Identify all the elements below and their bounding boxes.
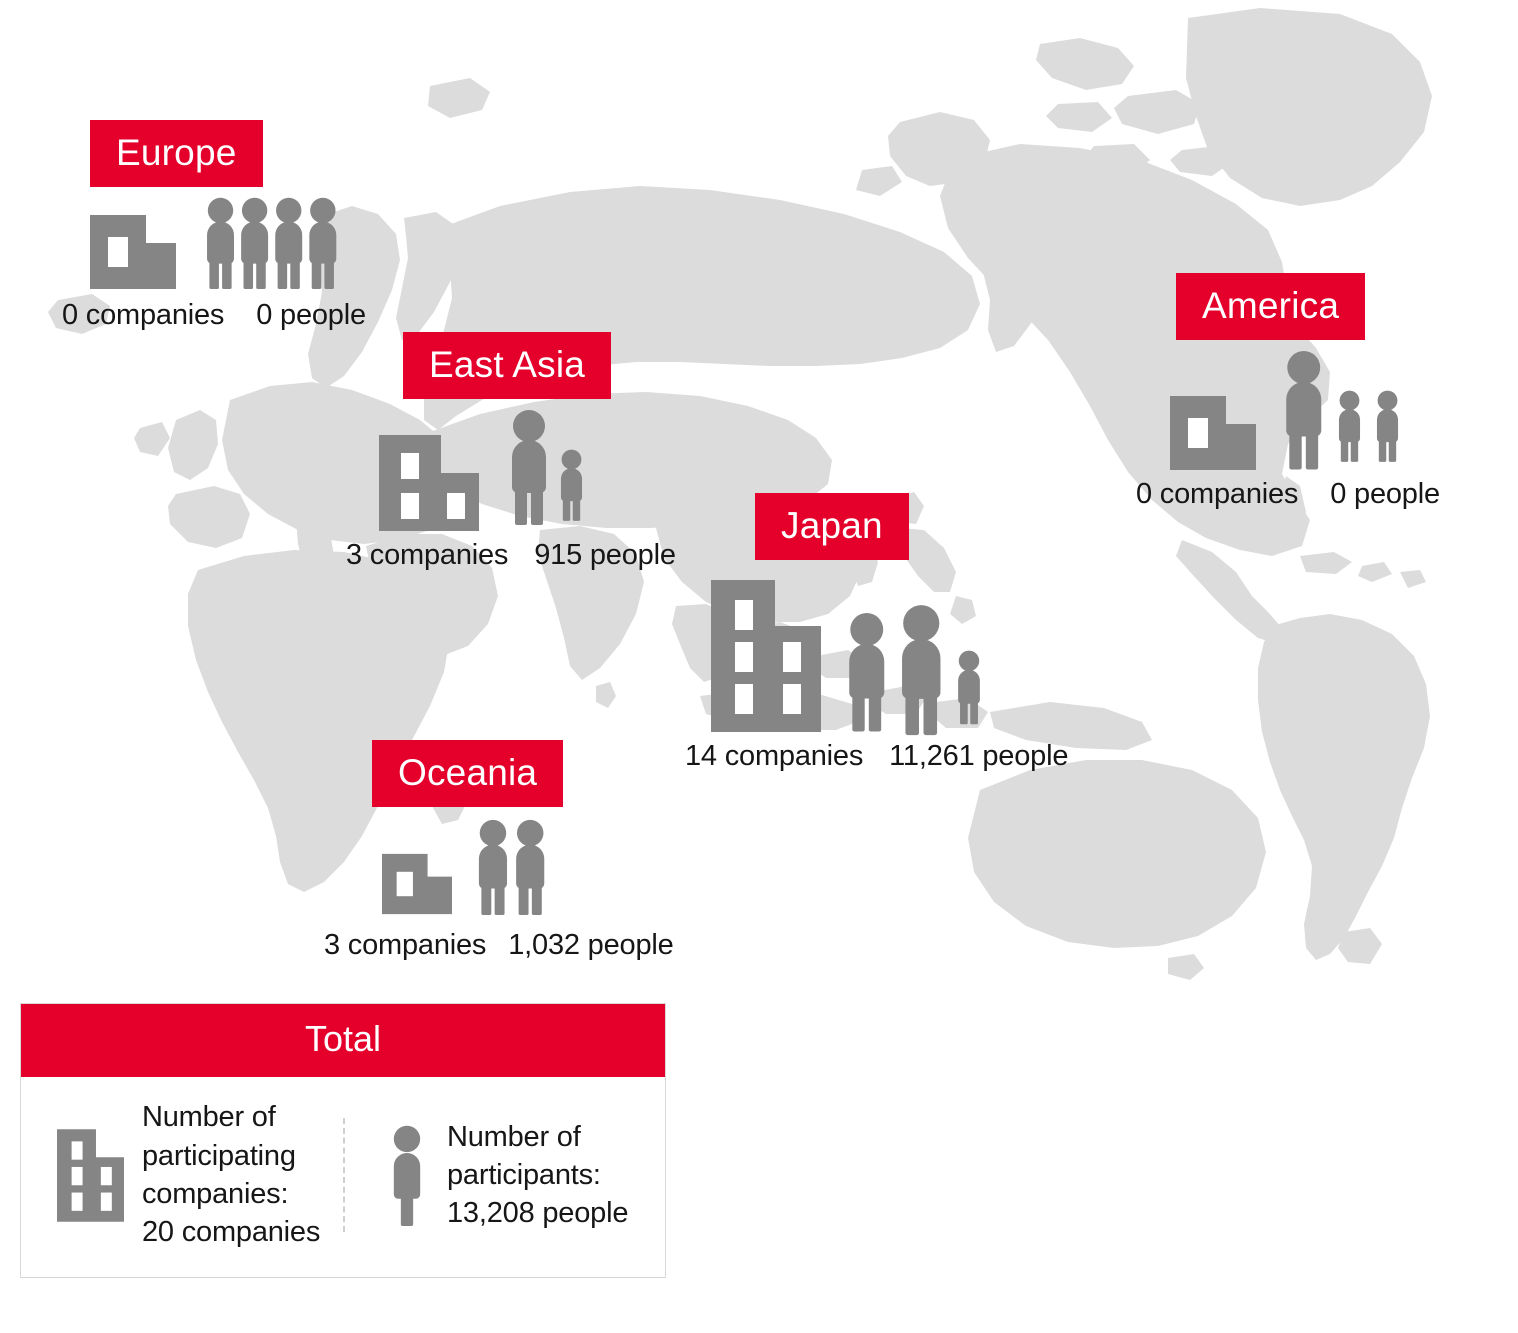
- person-icon: [385, 1124, 429, 1226]
- building-small-icon: [90, 215, 176, 289]
- region-people-japan: 11,261 people: [889, 740, 1068, 773]
- total-companies-line3: companies:: [142, 1175, 320, 1213]
- total-companies-text: Number of participating companies: 20 co…: [142, 1098, 320, 1251]
- total-people-line1: Number of: [447, 1118, 628, 1156]
- total-header: Total: [21, 1004, 665, 1077]
- region-stats-america: 0 companies 0 people: [1136, 478, 1440, 511]
- region-label-oceania: Oceania: [372, 740, 563, 807]
- building-large-icon: [57, 1129, 124, 1222]
- region-companies-japan: 14 companies: [685, 740, 863, 773]
- people-group-icon: [200, 197, 360, 289]
- region-east-asia: East Asia 3 companies 915 people: [403, 332, 676, 572]
- region-oceania: Oceania 3 companies 1,032 people: [372, 740, 674, 962]
- region-stats-oceania: 3 companies 1,032 people: [324, 929, 674, 962]
- total-body: Number of participating companies: 20 co…: [21, 1077, 665, 1277]
- total-people-column: Number of participants: 13,208 people: [343, 1118, 665, 1233]
- total-companies-line2: participating: [142, 1137, 320, 1175]
- region-japan: Japan 14 companies 11,261 people: [755, 493, 1068, 773]
- people-group-icon: [501, 409, 597, 531]
- region-icons-east-asia: [403, 409, 676, 531]
- region-people-america: 0 people: [1330, 478, 1440, 511]
- region-label-east-asia: East Asia: [403, 332, 611, 399]
- people-group-icon: [1278, 350, 1404, 470]
- region-people-europe: 0 people: [256, 299, 366, 332]
- region-stats-east-asia: 3 companies 915 people: [346, 539, 676, 572]
- total-companies-line1: Number of: [142, 1098, 320, 1136]
- region-people-east-asia: 915 people: [534, 539, 676, 572]
- total-people-text: Number of participants: 13,208 people: [447, 1118, 628, 1233]
- total-companies-value: 20 companies: [142, 1213, 320, 1251]
- region-stats-japan: 14 companies 11,261 people: [685, 740, 1068, 773]
- total-card: Total Number of participating companies:…: [20, 1003, 666, 1278]
- people-group-icon: [470, 819, 554, 915]
- total-companies-column: Number of participating companies: 20 co…: [21, 1098, 343, 1251]
- total-people-value: 13,208 people: [447, 1194, 628, 1232]
- region-icons-europe: [90, 197, 366, 289]
- region-companies-america: 0 companies: [1136, 478, 1298, 511]
- region-america: America 0 companies 0 people: [1176, 273, 1440, 511]
- region-icons-japan: [755, 574, 1068, 732]
- region-label-america: America: [1176, 273, 1365, 340]
- region-label-europe: Europe: [90, 120, 263, 187]
- region-label-japan: Japan: [755, 493, 909, 560]
- building-large-icon: [711, 580, 821, 732]
- region-icons-oceania: [372, 819, 674, 915]
- building-medium-icon: [379, 435, 479, 531]
- region-people-oceania: 1,032 people: [508, 929, 673, 962]
- region-companies-europe: 0 companies: [62, 299, 224, 332]
- region-icons-america: [1176, 350, 1440, 470]
- region-stats-europe: 0 companies 0 people: [62, 299, 366, 332]
- people-group-icon: [841, 592, 987, 732]
- region-companies-oceania: 3 companies: [324, 929, 486, 962]
- region-companies-east-asia: 3 companies: [346, 539, 508, 572]
- region-europe: Europe 0 companies 0 people: [90, 120, 366, 332]
- building-small-icon: [382, 853, 452, 915]
- infographic-root: Europe 0 companies 0 people East Asia: [0, 0, 1518, 1333]
- total-people-line2: participants:: [447, 1156, 628, 1194]
- building-small-icon: [1170, 396, 1256, 470]
